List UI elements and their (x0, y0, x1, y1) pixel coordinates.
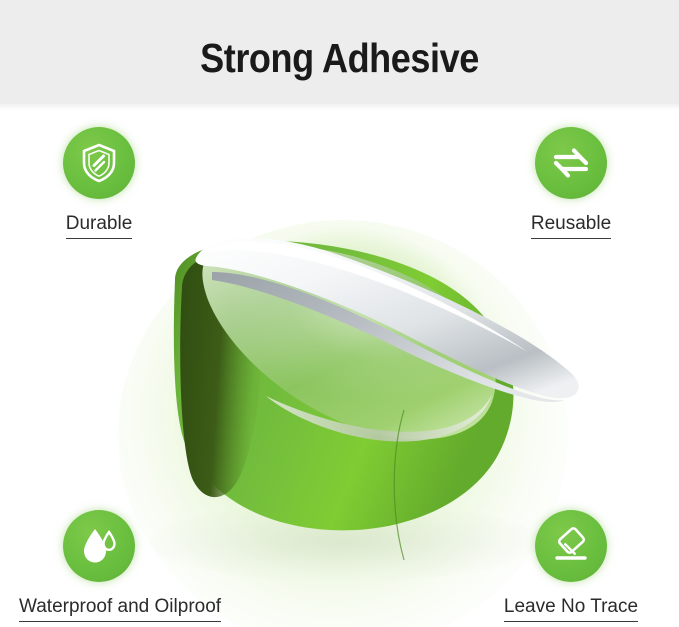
reusable-label: Reusable (531, 213, 611, 239)
reusable-icon-circle[interactable] (535, 127, 607, 199)
feature-reusable[interactable]: Reusable (491, 127, 651, 239)
waterproof-icon-circle[interactable] (63, 510, 135, 582)
no-trace-label: Leave No Trace (504, 596, 638, 622)
shield-icon (79, 142, 119, 184)
feature-no-trace[interactable]: Leave No Trace (491, 510, 651, 622)
feature-durable[interactable]: Durable (19, 127, 179, 239)
product-stage: Durable Reusable Water (0, 110, 679, 627)
page-title: Strong Adhesive (41, 35, 639, 82)
durable-label: Durable (66, 213, 133, 239)
water-drop-icon (79, 525, 119, 567)
no-trace-icon-circle[interactable] (535, 510, 607, 582)
swap-arrows-icon (550, 145, 592, 181)
durable-icon-circle[interactable] (63, 127, 135, 199)
eraser-icon (550, 526, 592, 566)
waterproof-label: Waterproof and Oilproof (19, 596, 221, 622)
feature-waterproof[interactable]: Waterproof and Oilproof (19, 510, 179, 622)
